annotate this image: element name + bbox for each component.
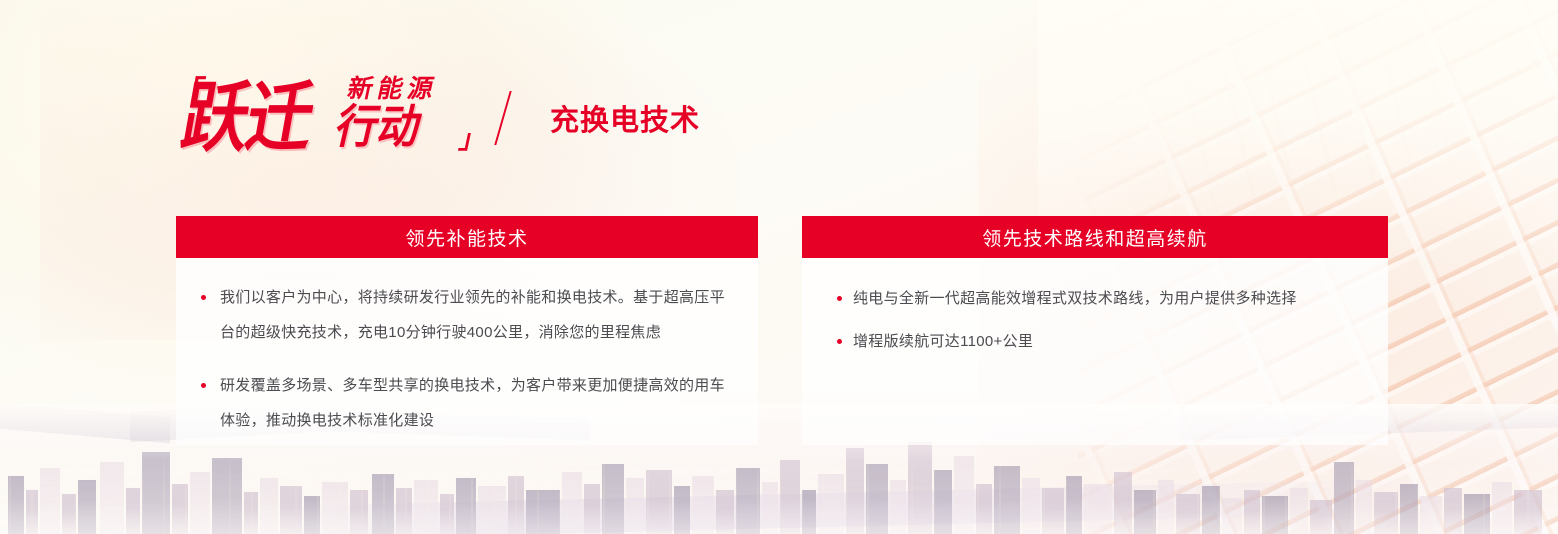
logo-top-text: 新能源: [345, 76, 440, 101]
river: [280, 478, 1460, 534]
logo-main-text: 跃迁: [177, 80, 318, 157]
mountain-ridge: [0, 404, 170, 443]
list-item: 纯电与全新一代超高能效增程式双技术路线，为用户提供多种选择: [834, 281, 1362, 316]
list-item: 研发覆盖多场景、多车型共享的换电技术，为客户带来更加便捷高效的用车体验，推动换电…: [198, 368, 734, 438]
card-leading-recharge-technology: 领先补能技术 我们以客户为中心，将持续研发行业领先的补能和换电技术。基于超高压平…: [176, 216, 758, 445]
list-item: 增程版续航可达1100+公里: [834, 324, 1362, 359]
card-header-bar: 领先补能技术: [176, 216, 758, 258]
bullet-list: 我们以客户为中心，将持续研发行业领先的补能和换电技术。基于超高压平台的超级快充技…: [198, 280, 734, 438]
banner-header: 「 跃迁 新能源 行动 」 充换电技术: [172, 74, 700, 162]
logo-closing-mark-icon: 」: [457, 126, 489, 152]
yueqian-new-energy-action-logo[interactable]: 「 跃迁 新能源 行动 」: [172, 74, 472, 162]
bullet-list: 纯电与全新一代超高能效增程式双技术路线，为用户提供多种选择 增程版续航可达110…: [834, 281, 1362, 359]
slash-divider-icon: [494, 91, 511, 145]
page-title: 充换电技术: [550, 97, 700, 139]
card-body: 纯电与全新一代超高能效增程式双技术路线，为用户提供多种选择 增程版续航可达110…: [802, 258, 1388, 385]
bottom-fade: [0, 500, 1558, 534]
card-title: 领先技术路线和超高续航: [982, 224, 1208, 251]
card-header-bar: 领先技术路线和超高续航: [802, 216, 1388, 258]
charging-technology-banner: 「 跃迁 新能源 行动 」 充换电技术 领先补能技术 我们以客户为中心，将持续研…: [0, 0, 1558, 534]
card-leading-tech-route-and-range: 领先技术路线和超高续航 纯电与全新一代超高能效增程式双技术路线，为用户提供多种选…: [802, 216, 1388, 445]
card-title: 领先补能技术: [405, 224, 528, 251]
tower-top-fins: [1081, 0, 1535, 231]
card-body: 我们以客户为中心，将持续研发行业领先的补能和换电技术。基于超高压平台的超级快充技…: [176, 258, 758, 456]
logo-bottom-text: 行动: [331, 104, 426, 150]
list-item: 我们以客户为中心，将持续研发行业领先的补能和换电技术。基于超高压平台的超级快充技…: [198, 280, 734, 350]
